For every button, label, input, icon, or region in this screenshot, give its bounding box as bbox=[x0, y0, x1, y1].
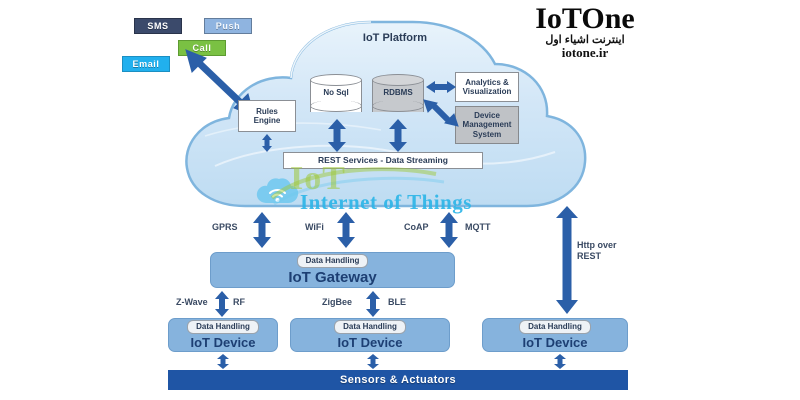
rules-engine-box[interactable]: Rules Engine bbox=[238, 100, 296, 132]
cloud-title: IoT Platform bbox=[330, 32, 460, 44]
arrow-device2-to-sensors bbox=[367, 354, 379, 369]
arrow-device1-to-sensors bbox=[217, 354, 229, 369]
cylinder-top bbox=[372, 74, 424, 86]
device-management-system-box[interactable]: Device Management System bbox=[455, 106, 519, 144]
arrow-gateway-device1 bbox=[215, 291, 229, 317]
analytics-label-line1: Analytics & bbox=[465, 78, 509, 88]
device-data-handling-badge: Data Handling bbox=[334, 320, 406, 334]
logo-wordmark: IoTOne bbox=[480, 4, 690, 34]
rest-services-box[interactable]: REST Services - Data Streaming bbox=[283, 152, 483, 169]
rdbms-label: RDBMS bbox=[372, 88, 424, 97]
http-rest-line2: REST bbox=[577, 251, 601, 261]
protocol-label-wifi: WiFi bbox=[305, 222, 324, 232]
device-data-handling-badge: Data Handling bbox=[519, 320, 591, 334]
analytics-visualization-box[interactable]: Analytics & Visualization bbox=[455, 72, 519, 102]
protocol-label-http-over-rest: Http over REST bbox=[577, 240, 617, 262]
dms-label-line3: System bbox=[473, 130, 501, 140]
rest-services-label: REST Services - Data Streaming bbox=[318, 156, 448, 166]
arrow-nosql-to-rest bbox=[328, 119, 346, 152]
rules-engine-label-line2: Engine bbox=[254, 116, 281, 126]
sensors-actuators-bar: Sensors & Actuators bbox=[168, 370, 628, 390]
arrow-rdbms-to-dms bbox=[424, 100, 458, 126]
arrow-cloud-gateway-mqtt bbox=[440, 212, 458, 248]
http-rest-line1: Http over bbox=[577, 240, 617, 250]
iot-gateway-box[interactable]: Data Handling IoT Gateway bbox=[210, 252, 455, 288]
notification-chip-push[interactable]: Push bbox=[204, 18, 252, 34]
nosql-label: No Sql bbox=[310, 88, 362, 97]
rules-engine-label-line1: Rules bbox=[256, 107, 278, 117]
arrow-rdbms-to-analytics bbox=[426, 80, 456, 94]
protocol-label-zwave: Z-Wave bbox=[176, 297, 208, 307]
diagram-canvas: SMS Push Call Email IoTOne اینترنت اشیاء… bbox=[0, 0, 800, 400]
gateway-title: IoT Gateway bbox=[288, 270, 376, 286]
device-title: IoT Device bbox=[337, 336, 402, 350]
iotone-logo: IoTOne اینترنت اشیاء اول iotone.ir bbox=[480, 4, 690, 58]
notification-chip-sms[interactable]: SMS bbox=[134, 18, 182, 34]
gateway-data-handling-badge: Data Handling bbox=[297, 254, 369, 268]
protocol-label-zigbee: ZigBee bbox=[322, 297, 352, 307]
protocol-label-mqtt: MQTT bbox=[465, 222, 491, 232]
cylinder-top bbox=[310, 74, 362, 86]
iot-device-box-2[interactable]: Data Handling IoT Device bbox=[290, 318, 450, 352]
protocol-label-coap: CoAP bbox=[404, 222, 429, 232]
rdbms-database-cylinder[interactable]: RDBMS bbox=[372, 74, 424, 118]
arrow-rdbms-to-rest bbox=[389, 119, 407, 152]
protocol-label-rf: RF bbox=[233, 297, 245, 307]
arrow-cloud-gateway-gprs bbox=[253, 212, 271, 248]
dms-label-line1: Device bbox=[474, 111, 500, 121]
protocol-label-ble: BLE bbox=[388, 297, 406, 307]
cylinder-bottom bbox=[372, 100, 424, 112]
device-title: IoT Device bbox=[190, 336, 255, 350]
sensors-actuators-label: Sensors & Actuators bbox=[340, 374, 456, 386]
protocol-label-gprs: GPRS bbox=[212, 222, 238, 232]
arrow-rules-to-rest bbox=[261, 134, 273, 152]
arrow-cloud-gateway-wifi bbox=[337, 212, 355, 248]
logo-url: iotone.ir bbox=[480, 46, 690, 60]
analytics-label-line2: Visualization bbox=[463, 87, 512, 97]
arrow-gateway-device2 bbox=[366, 291, 380, 317]
dms-label-line2: Management bbox=[463, 120, 512, 130]
arrow-device3-to-sensors bbox=[554, 354, 566, 369]
notification-chip-email[interactable]: Email bbox=[122, 56, 170, 72]
cylinder-bottom bbox=[310, 100, 362, 112]
device-title: IoT Device bbox=[522, 336, 587, 350]
arrow-cloud-to-device3 bbox=[556, 206, 578, 314]
iot-device-box-1[interactable]: Data Handling IoT Device bbox=[168, 318, 278, 352]
device-data-handling-badge: Data Handling bbox=[187, 320, 259, 334]
iot-device-box-3[interactable]: Data Handling IoT Device bbox=[482, 318, 628, 352]
nosql-database-cylinder[interactable]: No Sql bbox=[310, 74, 362, 118]
